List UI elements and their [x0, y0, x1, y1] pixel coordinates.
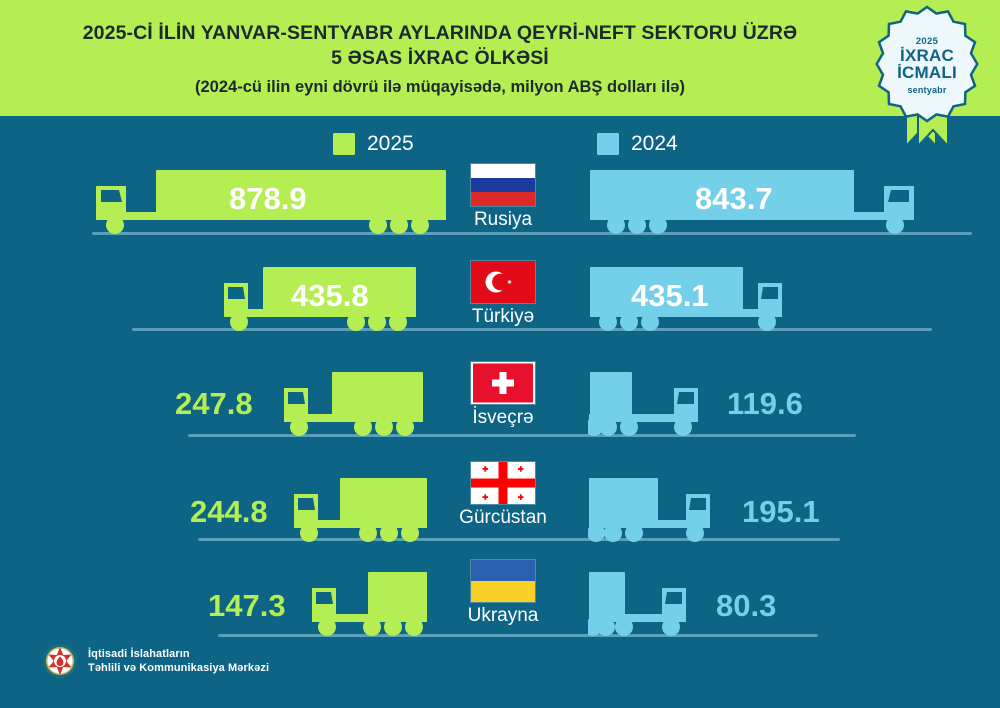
flag-russia-icon [471, 164, 535, 206]
flag-georgia-icon [471, 462, 535, 504]
flag-ukraine-icon [471, 560, 535, 602]
value-2025-rusiya: 878.9 [229, 181, 307, 217]
export-review-seal: 2025 İXRAC İCMALI sentyabr [864, 2, 990, 148]
value-2025-gurcustan: 244.8 [190, 494, 268, 530]
value-2024-isvecre: 119.6 [727, 386, 803, 422]
truck-2025-gurcustan [288, 476, 428, 546]
legend-swatch-2024 [597, 133, 619, 155]
flag-switzerland-icon [471, 362, 535, 404]
footer-line-1: İqtisadi İslahatların [88, 647, 269, 661]
truck-2024-ukrayna [588, 570, 692, 640]
flag-cell-gurcustan: Gürcüstan [423, 462, 583, 529]
header-text-block: 2025-Cİ İLİN YANVAR-SENTYABR AYLARINDA Q… [0, 0, 880, 116]
value-2025-ukrayna: 147.3 [208, 588, 286, 624]
footer-branding: İqtisadi İslahatların Təhlili və Kommuni… [42, 643, 269, 679]
title-line-1: 2025-Cİ İLİN YANVAR-SENTYABR AYLARINDA Q… [83, 21, 798, 46]
data-row-isvecre: 247.8 İsve [0, 358, 1000, 453]
legend-swatch-2025 [333, 133, 355, 155]
value-2024-gurcustan: 195.1 [742, 494, 820, 530]
chart-legend: 2025 2024 [0, 128, 1000, 160]
header-banner: 2025-Cİ İLİN YANVAR-SENTYABR AYLARINDA Q… [0, 0, 1000, 116]
legend-label-2025: 2025 [367, 132, 414, 156]
flag-cell-isvecre: İsveçrə [423, 362, 583, 429]
header-subtitle: (2024-cü ilin eyni dövrü ilə müqayisədə,… [195, 75, 685, 99]
country-label-turkiye: Türkiyə [423, 306, 583, 328]
country-label-gurcustan: Gürcüstan [423, 507, 583, 529]
value-2024-turkiye: 435.1 [631, 278, 709, 314]
value-2025-turkiye: 435.8 [291, 278, 369, 314]
data-row-ukrayna: 147.3 Ukrayna [0, 556, 1000, 656]
title-line-2: 5 ƏSAS İXRAC ÖLKƏSİ [331, 46, 549, 71]
truck-2025-isvecre [278, 370, 424, 440]
truck-2024-isvecre [588, 370, 704, 440]
flag-cell-turkiye: Türkiyə [423, 261, 583, 328]
value-2025-isvecre: 247.8 [175, 386, 253, 422]
data-row-gurcustan: 244.8 [0, 458, 1000, 558]
legend-label-2024: 2024 [631, 132, 678, 156]
flag-cell-ukrayna: Ukrayna [423, 560, 583, 627]
truck-2025-ukrayna [306, 570, 428, 640]
footer-text-block: İqtisadi İslahatların Təhlili və Kommuni… [88, 647, 269, 675]
flag-turkiye-icon [471, 261, 535, 303]
country-label-ukrayna: Ukrayna [423, 605, 583, 627]
country-label-isvecre: İsveçrə [423, 407, 583, 429]
value-2024-rusiya: 843.7 [695, 181, 773, 217]
truck-2024-gurcustan [588, 476, 716, 546]
country-label-rusiya: Rusiya [423, 209, 583, 231]
data-row-turkiye: 435.8 Türkiyə [0, 255, 1000, 350]
organization-logo-icon [42, 643, 78, 679]
data-row-rusiya: 878.9 Rusiya [0, 160, 1000, 255]
legend-item-2025: 2025 [333, 132, 414, 156]
footer-line-2: Təhlili və Kommunikasiya Mərkəzi [88, 661, 269, 675]
flag-cell-rusiya: Rusiya [423, 164, 583, 231]
value-2024-ukrayna: 80.3 [716, 588, 776, 624]
infographic-page: 2025-Cİ İLİN YANVAR-SENTYABR AYLARINDA Q… [0, 0, 1000, 708]
legend-item-2024: 2024 [597, 132, 678, 156]
